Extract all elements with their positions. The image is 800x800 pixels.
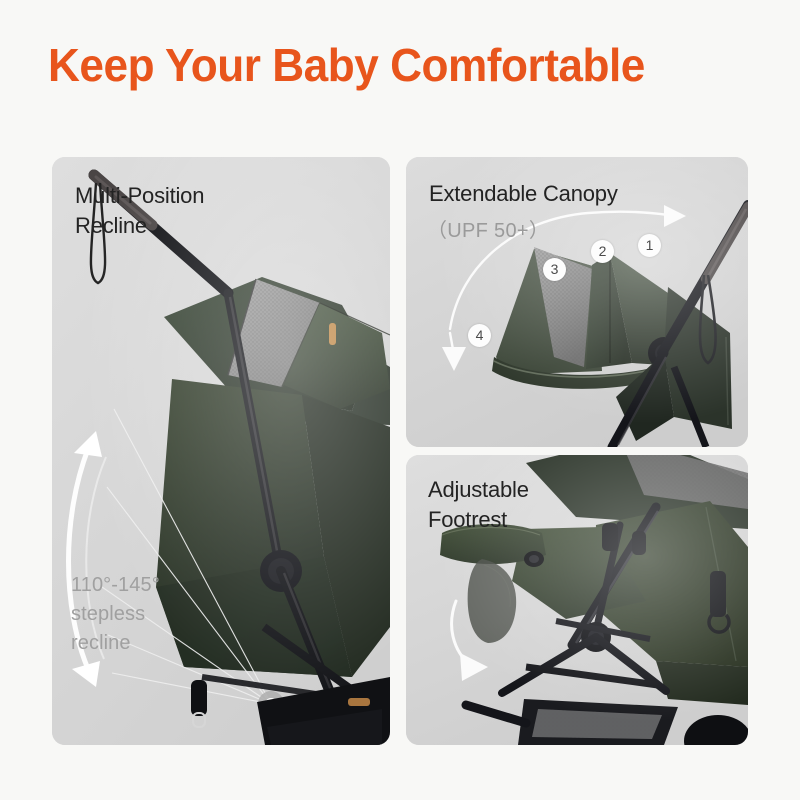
promo-graphic: Keep Your Baby Comfortable [0, 0, 800, 800]
panel-title-recline: Multi-Position Recline [75, 181, 204, 241]
canopy-step-badge-1: 1 [638, 234, 661, 257]
canopy-step-badge-3: 3 [543, 258, 566, 281]
panel-extendable-canopy: 1 2 3 4 Extendable Canopy （UPF 50+） [406, 157, 748, 447]
panel-multi-position-recline: Multi-Position Recline 110°-145° steples… [52, 157, 390, 745]
page-title: Keep Your Baby Comfortable [48, 41, 645, 89]
panel-title-footrest: Adjustable Footrest [428, 475, 529, 535]
canopy-step-badge-2: 2 [591, 240, 614, 263]
canopy-step-badge-4: 4 [468, 324, 491, 347]
panel-title-canopy: Extendable Canopy [429, 179, 618, 209]
recline-angle-caption: 110°-145° stepless recline [71, 571, 160, 658]
canopy-upf-rating: （UPF 50+） [427, 214, 549, 243]
panel-adjustable-footrest: Adjustable Footrest [406, 455, 748, 745]
